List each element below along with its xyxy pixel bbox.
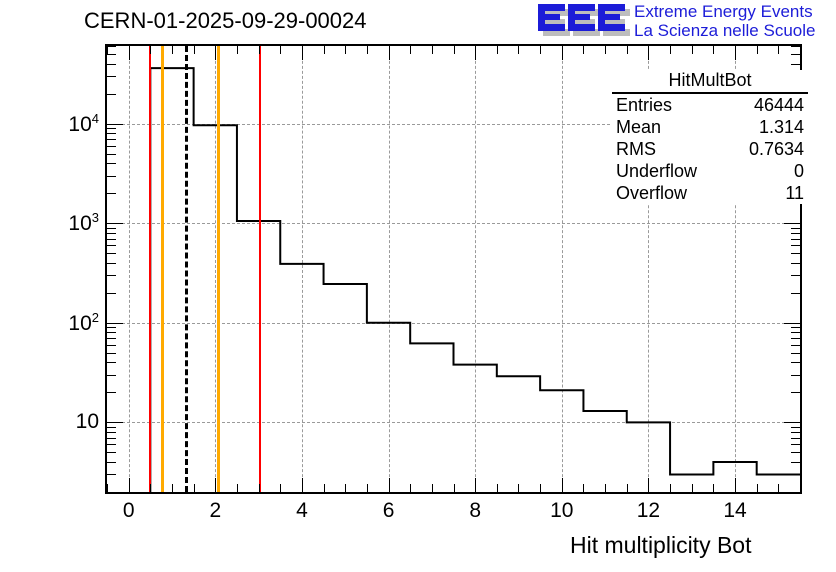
y-axis-tick-right bbox=[791, 362, 800, 363]
y-axis-tick-right bbox=[784, 422, 800, 423]
x-axis-tick-top bbox=[454, 46, 455, 54]
x-axis-tick-top bbox=[648, 46, 649, 60]
x-axis-tick bbox=[540, 484, 541, 492]
y-axis-tick-right bbox=[791, 233, 800, 234]
y-axis-tick bbox=[107, 444, 116, 445]
y-axis-tick bbox=[107, 146, 116, 147]
stats-row-value: 0 bbox=[794, 160, 804, 182]
y-axis-tick-right bbox=[791, 228, 800, 229]
x-axis-tick-top bbox=[605, 46, 606, 54]
y-axis-tick bbox=[107, 139, 116, 140]
x-axis-tick bbox=[475, 478, 476, 492]
x-axis-label: 14 bbox=[723, 499, 746, 523]
stats-row-key: Underflow bbox=[616, 160, 697, 182]
y-axis-tick bbox=[107, 233, 116, 234]
x-axis-tick-top bbox=[670, 46, 671, 54]
y-axis-tick-right bbox=[791, 263, 800, 264]
stats-row-value: 46444 bbox=[754, 94, 804, 116]
y-axis-tick-right bbox=[784, 223, 800, 224]
y-axis-tick-right bbox=[791, 245, 800, 246]
y-axis-tick-right bbox=[791, 64, 800, 65]
stats-row-key: Overflow bbox=[616, 182, 687, 204]
y-axis-tick bbox=[107, 332, 116, 333]
x-axis-tick bbox=[107, 484, 108, 492]
x-axis-tick bbox=[605, 484, 606, 492]
y-axis-tick-right bbox=[791, 275, 800, 276]
y-axis-tick-right bbox=[791, 293, 800, 294]
x-axis-tick bbox=[389, 478, 390, 492]
y-axis-tick bbox=[107, 245, 116, 246]
y-axis-tick-right bbox=[791, 239, 800, 240]
y-axis-tick bbox=[107, 452, 116, 453]
stats-title: HitMultBot bbox=[612, 70, 808, 94]
y-axis-tick-right bbox=[791, 432, 800, 433]
y-axis-tick bbox=[107, 46, 116, 47]
x-axis-tick bbox=[432, 484, 433, 492]
x-axis-tick bbox=[215, 478, 216, 492]
y-axis-tick bbox=[107, 375, 116, 376]
x-axis-tick-top bbox=[540, 46, 541, 54]
x-axis-tick-top bbox=[237, 46, 238, 54]
y-axis-tick-right bbox=[791, 392, 800, 393]
y-axis-label: 10 bbox=[7, 410, 99, 434]
y-axis-tick bbox=[107, 462, 116, 463]
x-axis-tick-top bbox=[367, 46, 368, 54]
stats-box: HitMultBot Entries46444Mean1.314RMS0.763… bbox=[612, 70, 808, 204]
eee-logo-text: Extreme Energy Events La Scienza nelle S… bbox=[634, 2, 815, 40]
y-axis-tick bbox=[107, 422, 123, 423]
x-axis-tick bbox=[778, 484, 779, 492]
x-axis-tick-top bbox=[324, 46, 325, 54]
y-axis-tick-right bbox=[791, 427, 800, 428]
x-axis-tick bbox=[324, 484, 325, 492]
x-axis-tick-top bbox=[475, 46, 476, 60]
y-axis-tick-right bbox=[791, 474, 800, 475]
orange-line-right bbox=[217, 46, 220, 492]
stats-row: Underflow0 bbox=[612, 160, 808, 182]
x-axis-label: 0 bbox=[123, 499, 135, 523]
x-axis-tick bbox=[172, 484, 173, 492]
x-axis-tick bbox=[735, 478, 736, 492]
x-axis-tick-top bbox=[713, 46, 714, 54]
x-axis-tick-top bbox=[410, 46, 411, 54]
y-axis-tick bbox=[107, 76, 116, 77]
y-axis-tick bbox=[107, 362, 116, 363]
y-axis-tick bbox=[107, 275, 116, 276]
x-axis-title: Hit multiplicity Bot bbox=[570, 532, 751, 559]
y-axis-label: 104 bbox=[7, 111, 99, 137]
x-axis-tick-top bbox=[735, 46, 736, 60]
x-axis-tick bbox=[150, 484, 151, 492]
y-axis-tick bbox=[107, 432, 116, 433]
y-axis-tick-right bbox=[784, 323, 800, 324]
x-axis-label: 10 bbox=[550, 499, 573, 523]
stats-row-key: Entries bbox=[616, 94, 672, 116]
x-axis-tick-top bbox=[280, 46, 281, 54]
y-axis-tick-right bbox=[791, 353, 800, 354]
stats-row-value: 11 bbox=[785, 182, 804, 204]
y-axis-tick-right bbox=[791, 54, 800, 55]
x-axis-tick bbox=[367, 484, 368, 492]
y-axis-tick bbox=[107, 94, 116, 95]
y-axis-tick bbox=[107, 154, 116, 155]
x-axis-tick-top bbox=[345, 46, 346, 54]
y-axis-tick bbox=[107, 327, 116, 328]
x-axis-tick bbox=[583, 484, 584, 492]
y-axis-tick bbox=[107, 263, 116, 264]
stats-row-key: RMS bbox=[616, 138, 656, 160]
y-axis-tick-right bbox=[791, 332, 800, 333]
x-axis-label: 8 bbox=[469, 499, 481, 523]
y-axis-tick bbox=[107, 353, 116, 354]
page-title: CERN-01-2025-09-29-00024 bbox=[84, 8, 367, 34]
x-axis-tick bbox=[194, 484, 195, 492]
stats-row: RMS0.7634 bbox=[612, 138, 808, 160]
stats-row-value: 0.7634 bbox=[749, 138, 804, 160]
x-axis-tick-top bbox=[562, 46, 563, 60]
x-axis-tick-top bbox=[259, 46, 260, 54]
y-axis-tick bbox=[107, 54, 116, 55]
orange-line-left bbox=[161, 46, 164, 492]
y-axis-tick bbox=[107, 176, 116, 177]
dashed-line-mean bbox=[185, 46, 188, 492]
y-axis-tick bbox=[107, 438, 116, 439]
x-axis-tick bbox=[237, 484, 238, 492]
x-axis-label: 2 bbox=[209, 499, 221, 523]
y-axis-tick-right bbox=[791, 375, 800, 376]
stats-row: Overflow11 bbox=[612, 182, 808, 204]
y-axis-tick bbox=[107, 193, 116, 194]
stats-rows: Entries46444Mean1.314RMS0.7634Underflow0… bbox=[612, 94, 808, 204]
y-axis-tick bbox=[107, 474, 116, 475]
x-axis-tick-top bbox=[518, 46, 519, 54]
x-axis-tick bbox=[518, 484, 519, 492]
y-axis-tick-right bbox=[791, 345, 800, 346]
y-axis-tick bbox=[107, 338, 116, 339]
y-axis-tick bbox=[107, 323, 123, 324]
x-axis-tick bbox=[410, 484, 411, 492]
x-axis-tick-top bbox=[778, 46, 779, 54]
y-axis-tick bbox=[107, 124, 123, 125]
y-axis-tick bbox=[107, 163, 116, 164]
x-axis-tick-top bbox=[194, 46, 195, 54]
y-axis-label: 102 bbox=[7, 310, 99, 336]
y-axis-label: 103 bbox=[7, 210, 99, 236]
x-axis-tick bbox=[627, 484, 628, 492]
x-axis-tick bbox=[562, 478, 563, 492]
y-axis-tick-right bbox=[791, 438, 800, 439]
x-axis-label: 4 bbox=[296, 499, 308, 523]
x-axis-tick bbox=[497, 484, 498, 492]
y-axis-tick bbox=[107, 133, 116, 134]
y-axis-tick bbox=[107, 293, 116, 294]
x-axis-tick-top bbox=[129, 46, 130, 60]
y-axis-tick bbox=[107, 239, 116, 240]
y-axis-tick bbox=[107, 345, 116, 346]
histogram-page: CERN-01-2025-09-29-00024 bbox=[0, 0, 836, 572]
y-axis-tick bbox=[107, 128, 116, 129]
y-axis-tick bbox=[107, 392, 116, 393]
x-axis-tick-top bbox=[432, 46, 433, 54]
x-axis-tick-top bbox=[757, 46, 758, 54]
eee-mark-icon bbox=[538, 4, 630, 38]
x-axis-tick-top bbox=[215, 46, 216, 60]
eee-letters-svg bbox=[538, 4, 630, 38]
x-axis-tick-top bbox=[107, 46, 108, 54]
eee-logo-line1: Extreme Energy Events bbox=[634, 2, 815, 21]
y-axis-tick-right bbox=[791, 46, 800, 47]
red-line-left bbox=[149, 46, 151, 492]
x-axis-tick-top bbox=[497, 46, 498, 54]
stats-row-value: 1.314 bbox=[759, 116, 804, 138]
y-axis-tick-right bbox=[791, 327, 800, 328]
x-axis-tick-top bbox=[389, 46, 390, 60]
x-axis-tick bbox=[129, 478, 130, 492]
x-axis-tick-top bbox=[627, 46, 628, 54]
x-axis-tick bbox=[757, 484, 758, 492]
y-axis-tick-right bbox=[791, 462, 800, 463]
y-axis-tick bbox=[107, 64, 116, 65]
x-axis-tick-top bbox=[583, 46, 584, 54]
y-axis-tick bbox=[107, 228, 116, 229]
x-axis-tick-top bbox=[172, 46, 173, 54]
x-axis-tick-top bbox=[692, 46, 693, 54]
x-axis-tick bbox=[713, 484, 714, 492]
x-axis-tick bbox=[648, 478, 649, 492]
x-axis-tick-top bbox=[150, 46, 151, 54]
x-axis-tick bbox=[280, 484, 281, 492]
y-axis-tick-right bbox=[791, 338, 800, 339]
y-axis-tick-right bbox=[791, 253, 800, 254]
x-axis-label: 6 bbox=[383, 499, 395, 523]
x-axis-tick bbox=[454, 484, 455, 492]
y-axis-tick-right bbox=[791, 452, 800, 453]
x-axis-tick bbox=[670, 484, 671, 492]
stats-row: Entries46444 bbox=[612, 94, 808, 116]
x-axis-tick bbox=[302, 478, 303, 492]
x-axis-tick bbox=[259, 484, 260, 492]
stats-row-key: Mean bbox=[616, 116, 661, 138]
stats-row: Mean1.314 bbox=[612, 116, 808, 138]
y-axis-tick-right bbox=[791, 444, 800, 445]
x-axis-tick bbox=[692, 484, 693, 492]
y-axis-tick bbox=[107, 223, 123, 224]
eee-logo: Extreme Energy Events La Scienza nelle S… bbox=[538, 2, 834, 40]
red-line-right bbox=[259, 46, 261, 492]
eee-logo-line2: La Scienza nelle Scuole bbox=[634, 21, 815, 40]
y-axis-tick bbox=[107, 427, 116, 428]
x-axis-tick bbox=[345, 484, 346, 492]
x-axis-label: 12 bbox=[637, 499, 660, 523]
y-axis-tick bbox=[107, 253, 116, 254]
x-axis-tick-top bbox=[302, 46, 303, 60]
